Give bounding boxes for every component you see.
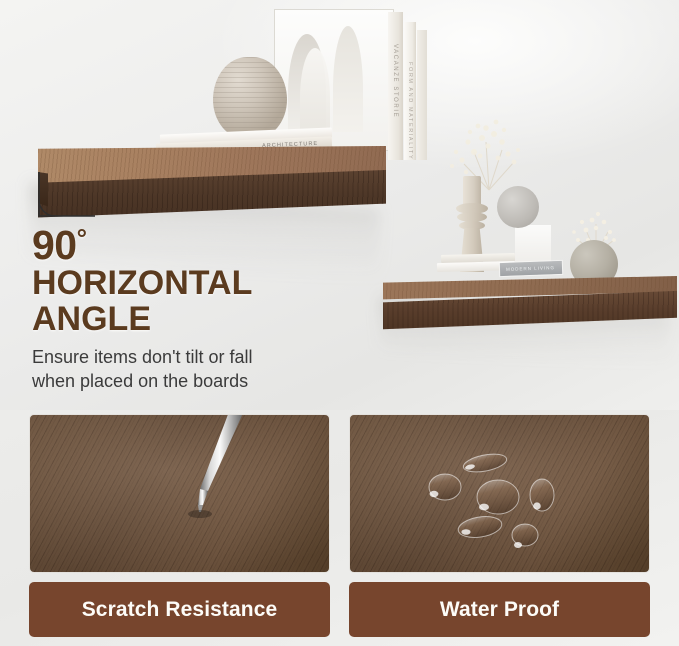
subtext-line-2: when placed on the boards: [32, 370, 362, 394]
headline-line-1: HORIZONTAL: [32, 265, 362, 301]
feature-water-proof: Water Proof: [349, 414, 650, 646]
book-spine-label: VACANZE STORIE: [392, 44, 398, 118]
feature-scratch-resistance: Scratch Resistance: [29, 414, 330, 646]
headline-degree-value: 90°: [32, 225, 362, 265]
subtext-line-1: Ensure items don't tilt or fall: [32, 346, 362, 370]
scratch-resistance-photo: [29, 414, 330, 573]
scratch-resistance-label-bar: Scratch Resistance: [29, 582, 330, 637]
right-angle-marker-icon: [33, 168, 105, 228]
hero-scene: VACANZE STORIE FORM AND MATERIALITY LA V…: [0, 0, 679, 410]
headline-degree-number: 90: [32, 222, 77, 268]
book-spine: [417, 30, 427, 160]
headline-line-2: ANGLE: [32, 301, 362, 337]
water-proof-label-bar: Water Proof: [349, 582, 650, 637]
scratch-resistance-label: Scratch Resistance: [82, 598, 278, 622]
water-droplets-icon: [350, 415, 650, 573]
product-feature-graphic: VACANZE STORIE FORM AND MATERIALITY LA V…: [0, 0, 679, 646]
decorative-grey-disc: [497, 186, 539, 228]
book-spine-label: FORM AND MATERIALITY: [407, 62, 413, 160]
water-proof-photo: [349, 414, 650, 573]
screwdriver-icon: [30, 415, 330, 573]
ribbed-ceramic-vase: [213, 57, 287, 139]
feature-panels: Scratch Resistance: [0, 414, 679, 646]
water-proof-label: Water Proof: [440, 598, 559, 622]
headline-block: 90° HORIZONTAL ANGLE Ensure items don't …: [32, 225, 362, 394]
floating-shelf-lower: [383, 276, 677, 346]
degree-symbol: °: [77, 223, 87, 253]
